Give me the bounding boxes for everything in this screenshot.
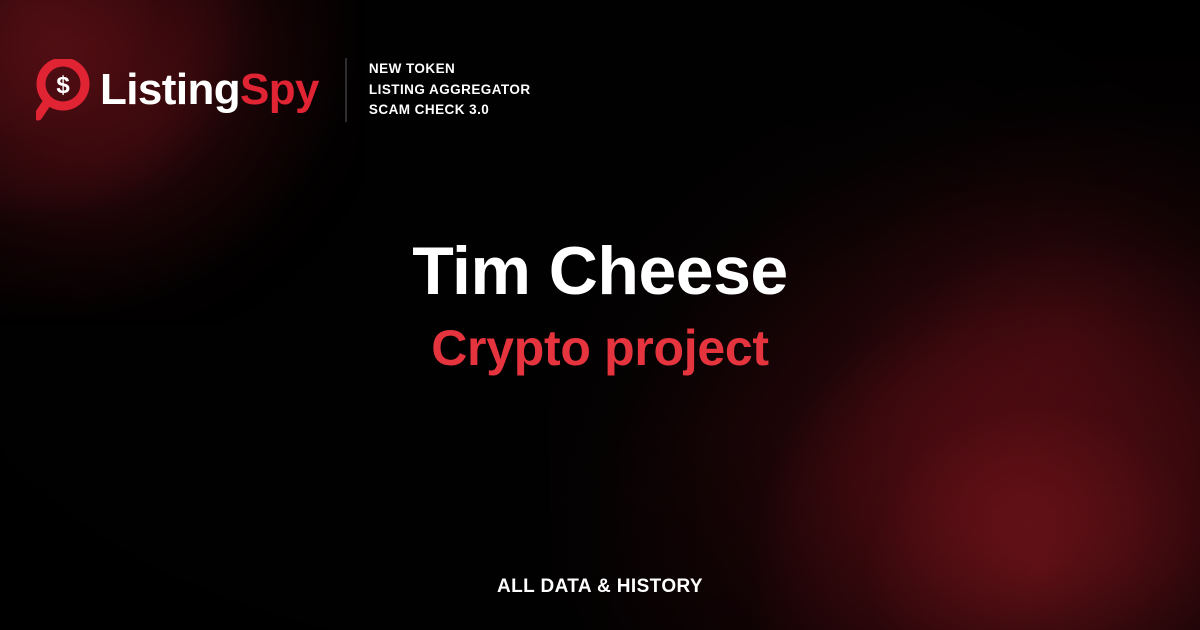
brand-name-spy: Spy — [240, 65, 319, 114]
brand-wordmark: ListingSpy — [100, 68, 319, 112]
footer-caption: ALL DATA & HISTORY — [0, 576, 1200, 598]
main-content: Tim Cheese Crypto project — [0, 236, 1200, 376]
promo-card: $ ListingSpy NEW TOKEN LISTING AGGREGATO… — [0, 0, 1200, 630]
page-title: Tim Cheese — [0, 236, 1200, 307]
tagline-line-1: NEW TOKEN — [369, 59, 531, 80]
tagline-line-2: LISTING AGGREGATOR — [369, 80, 531, 101]
page-subtitle: Crypto project — [0, 321, 1200, 376]
magnifier-dollar-icon: $ — [36, 59, 94, 121]
header-divider — [345, 58, 347, 122]
tagline-line-3: SCAM CHECK 3.0 — [369, 100, 531, 121]
brand-name-listing: Listing — [100, 65, 240, 114]
brand-header: $ ListingSpy NEW TOKEN LISTING AGGREGATO… — [36, 52, 531, 128]
svg-text:$: $ — [56, 72, 70, 99]
brand-tagline: NEW TOKEN LISTING AGGREGATOR SCAM CHECK … — [369, 59, 531, 122]
